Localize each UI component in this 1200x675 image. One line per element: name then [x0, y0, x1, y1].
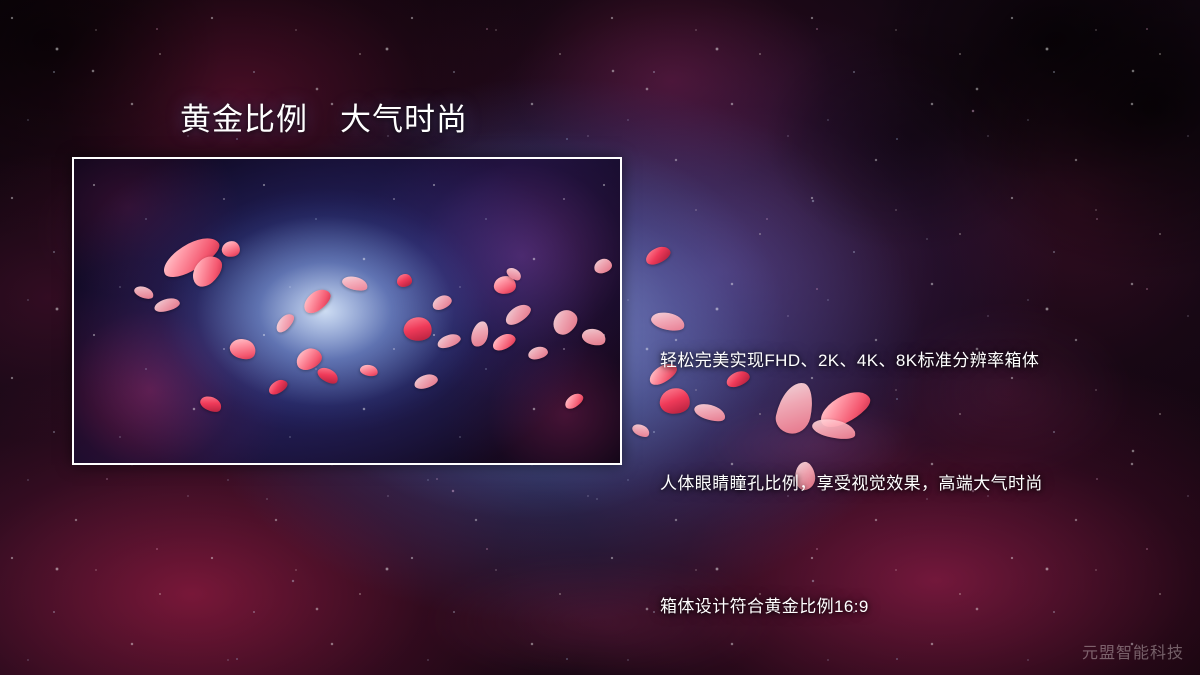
watermark: 元盟智能科技 — [1082, 639, 1184, 663]
page-title: 黄金比例 大气时尚 — [180, 101, 468, 138]
petal-decoration — [630, 421, 651, 440]
framed-image — [72, 157, 622, 465]
body-line: 箱体设计符合黄金比例16:9 — [660, 586, 1180, 627]
presentation-slide: 黄金比例 大气时尚 轻松完美实现FHD、2K、 — [0, 0, 1200, 675]
body-line: 人体眼睛瞳孔比例，享受视觉效果，高端大气时尚 — [660, 463, 1180, 504]
body-copy: 轻松完美实现FHD、2K、4K、8K标准分辨率箱体 人体眼睛瞳孔比例，享受视觉效… — [660, 258, 1180, 675]
body-line: 轻松完美实现FHD、2K、4K、8K标准分辨率箱体 — [660, 340, 1180, 381]
